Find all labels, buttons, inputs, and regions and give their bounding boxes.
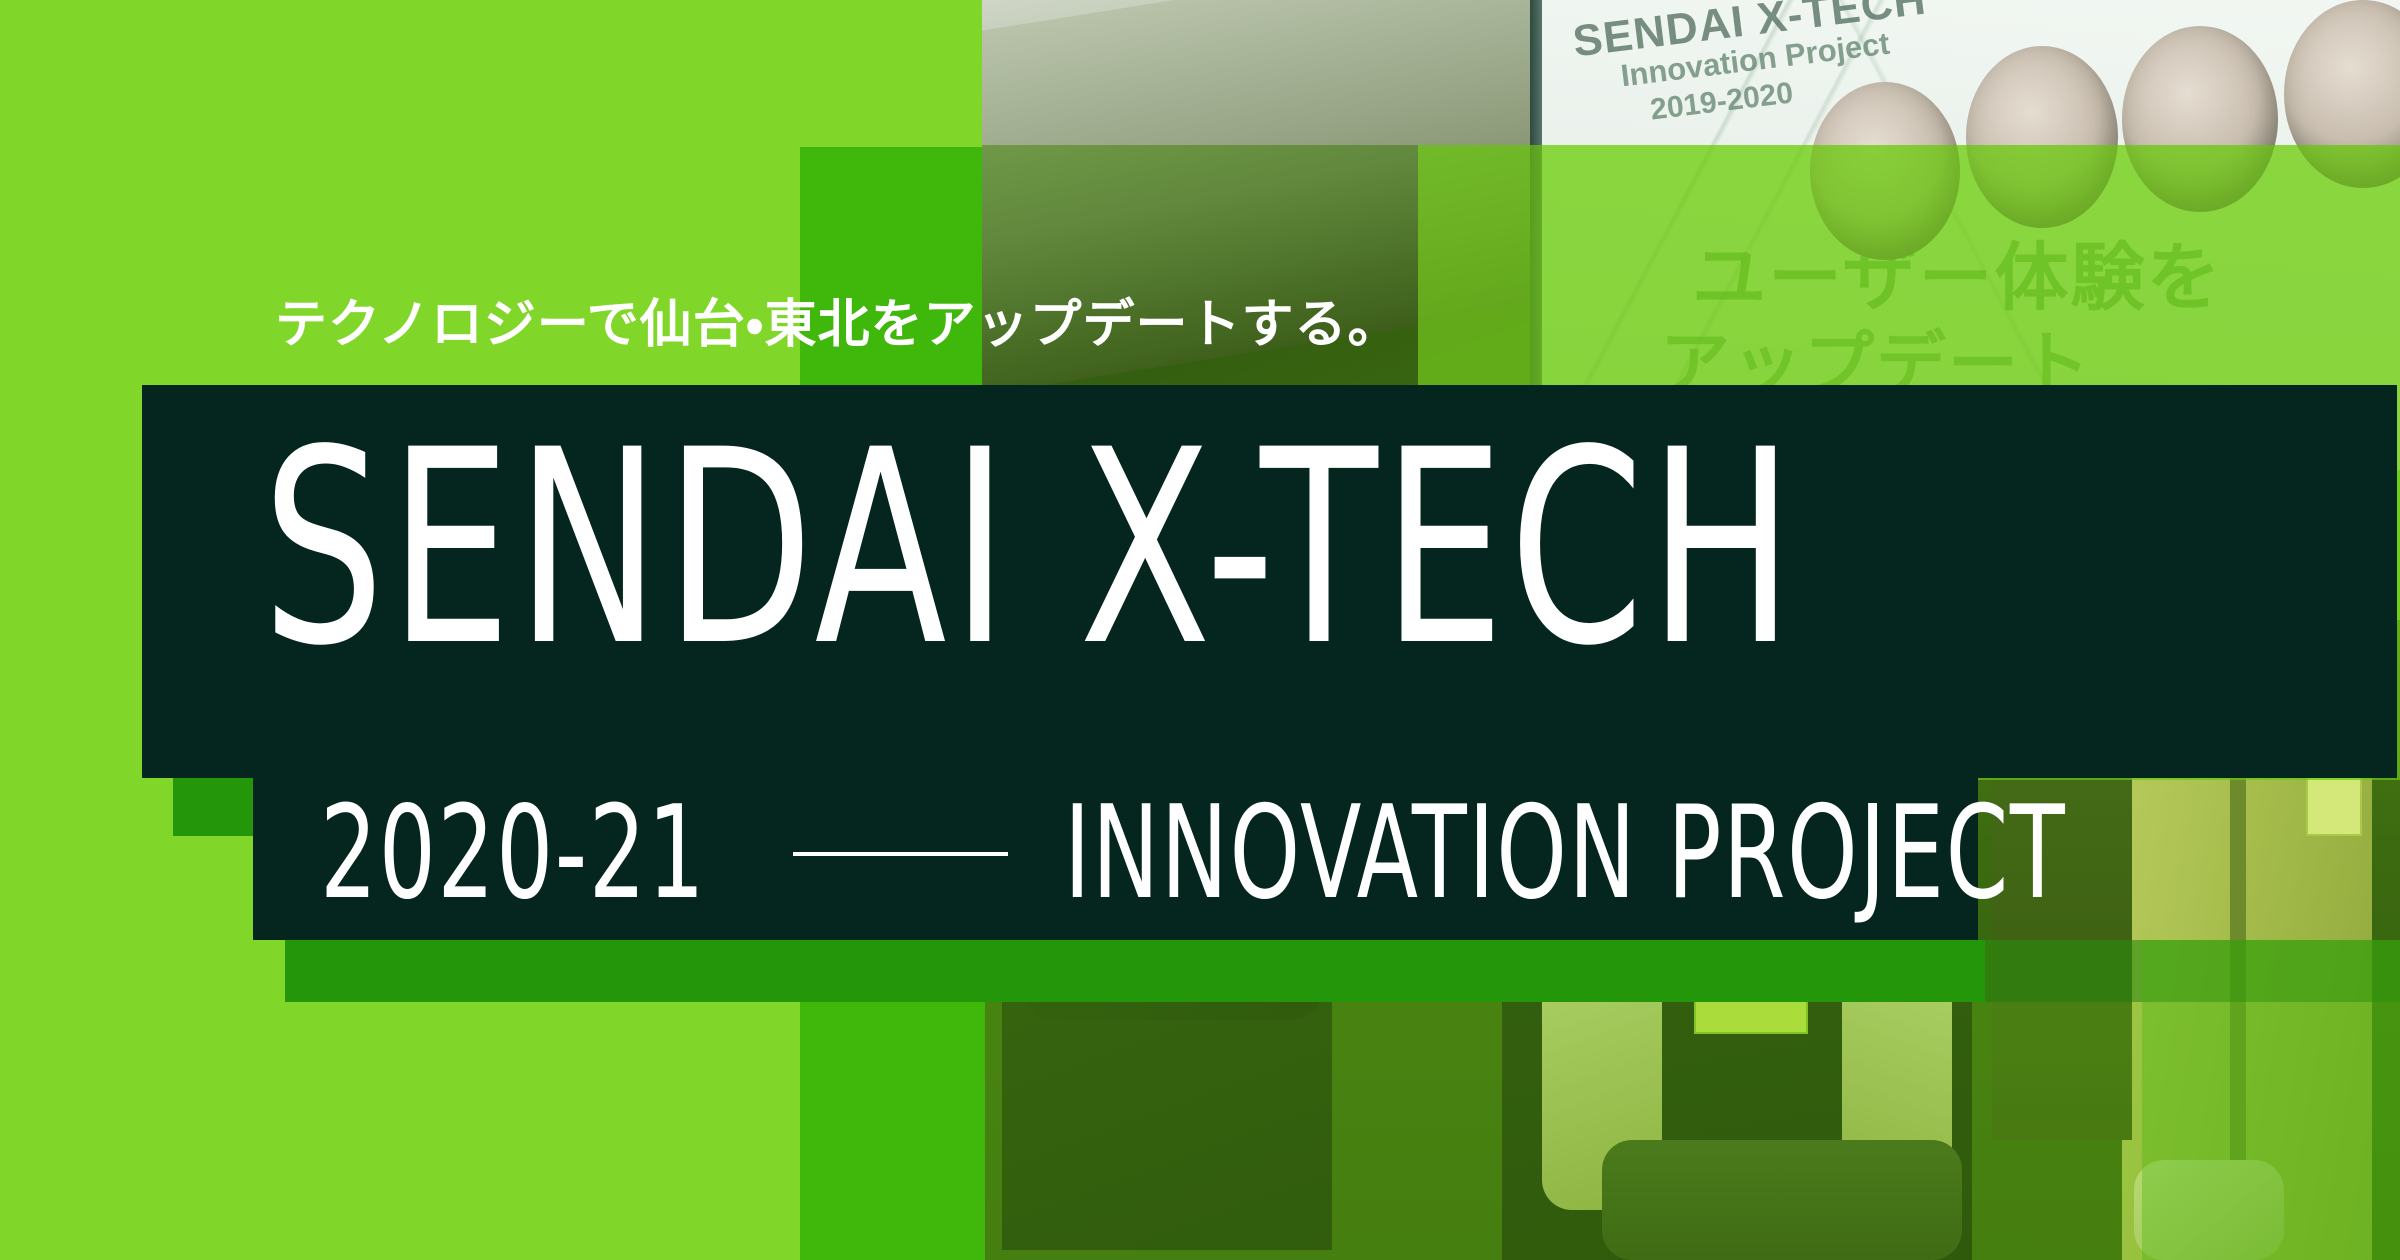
photo-tint-far-right xyxy=(2142,940,2400,1260)
background-deep-green-band-lower xyxy=(285,940,1985,1002)
tagline: テクノロジーで仙台・東北をアップデートする。 xyxy=(275,282,1400,357)
subtitle-row: 2020-21 INNOVATION PROJECT xyxy=(320,790,2349,918)
project-label: INNOVATION PROJECT xyxy=(1064,790,2066,918)
page-title: SENDAI X-TECH xyxy=(262,415,1799,683)
hero-banner: SENDAI X-TECH Innovation Project 2019-20… xyxy=(0,0,2400,1260)
subtitle-divider xyxy=(793,852,1008,856)
year-range: 2020-21 xyxy=(320,790,706,918)
